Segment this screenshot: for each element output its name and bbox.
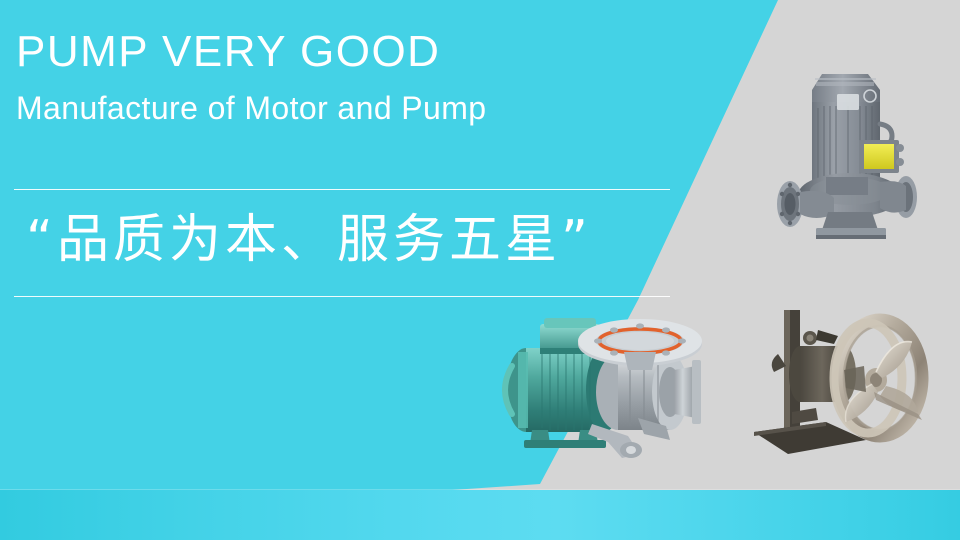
headline-block: PUMP VERY GOOD Manufacture of Motor and … (16, 24, 716, 130)
inline-pump-illustration (760, 52, 950, 252)
page-subtitle: Manufacture of Motor and Pump (16, 86, 716, 130)
centrifugal-pump-illustration (488, 308, 738, 468)
bottom-color-band (0, 490, 960, 540)
divider-bottom (14, 296, 670, 297)
product-image-inline-pump (760, 52, 950, 252)
promo-banner: PUMP VERY GOOD Manufacture of Motor and … (0, 0, 960, 540)
submersible-mixer-illustration (748, 296, 948, 466)
product-image-submersible-mixer (748, 296, 948, 466)
divider-top (14, 189, 670, 190)
product-image-centrifugal-pump (488, 308, 738, 468)
slogan-text: “品质为本、服务五星” (26, 203, 592, 277)
page-title: PUMP VERY GOOD (16, 24, 716, 80)
